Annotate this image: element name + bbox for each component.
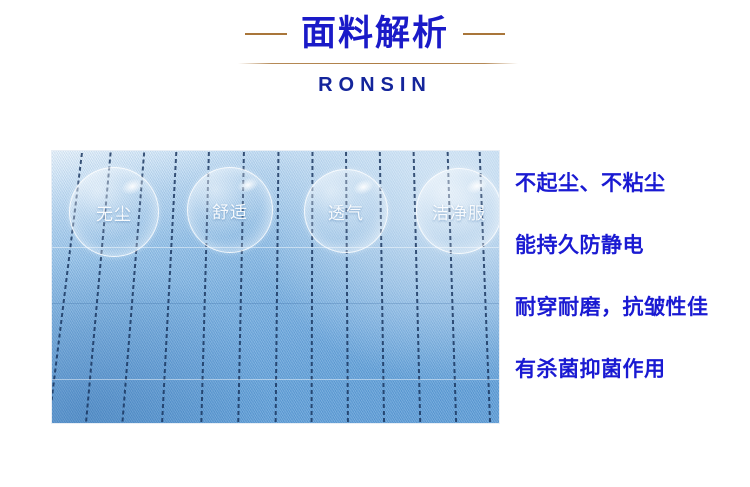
feature-item: 耐穿耐磨，抗皱性佳 [515, 294, 750, 356]
feature-item: 不起尘、不粘尘 [515, 170, 750, 232]
feature-item: 能持久防静电 [515, 232, 750, 294]
conductive-stripe [160, 150, 177, 424]
conductive-stripe [274, 150, 279, 424]
feature-item: 有杀菌抑菌作用 [515, 356, 750, 418]
fabric-photo: 无尘 舒适 透气 洁净服 [51, 150, 500, 424]
page-header: 面料解析 RONSIN [0, 0, 750, 120]
feature-list: 不起尘、不粘尘 能持久防静电 耐穿耐磨，抗皱性佳 有杀菌抑菌作用 [515, 170, 750, 418]
title-row: 面料解析 [0, 12, 750, 56]
bubble-comfortable: 舒适 [187, 167, 273, 253]
bubble-label: 透气 [328, 199, 364, 224]
fabric-fold-line [52, 379, 500, 380]
page-title: 面料解析 [301, 12, 449, 56]
bubble-label: 无尘 [96, 200, 132, 225]
bubble-label: 舒适 [212, 198, 248, 223]
bubble-label: 洁净服 [432, 199, 486, 224]
bubble-dust-free: 无尘 [69, 167, 159, 257]
fabric-fold-line [52, 303, 500, 304]
title-dash-left [245, 33, 287, 35]
brand-name: RONSIN [0, 74, 750, 97]
title-dash-right [463, 33, 505, 35]
bubble-cleanroom-garment: 洁净服 [416, 168, 500, 254]
bubble-breathable: 透气 [304, 169, 388, 253]
title-underline-rule [238, 63, 518, 64]
